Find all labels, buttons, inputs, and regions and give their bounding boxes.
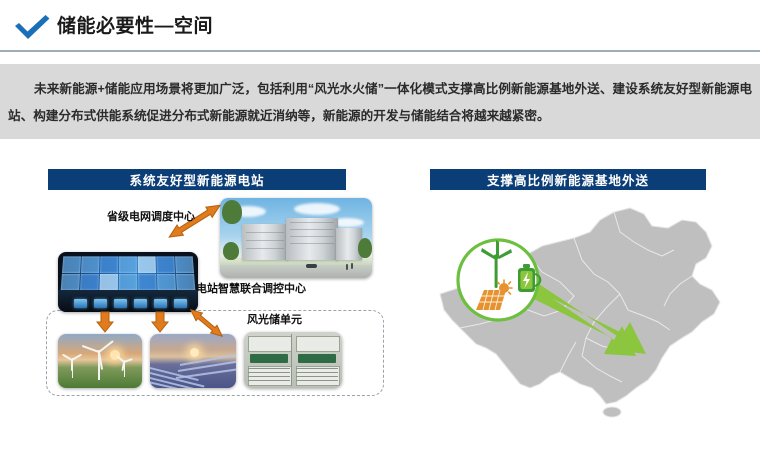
page-title: 储能必要性—空间 (57, 11, 213, 38)
right-section-banner: 支撑高比例新能源基地外送 (430, 169, 706, 190)
renewable-energy-badge (458, 240, 540, 320)
arrow-to-solar (152, 312, 168, 332)
label-wind-solar-storage-unit: 风光储单元 (247, 311, 302, 327)
left-section-banner: 系统友好型新能源电站 (48, 169, 346, 190)
hainan-island (603, 407, 621, 417)
arrow-to-wind (97, 312, 113, 332)
china-map (424, 198, 744, 430)
slide-header: 储能必要性—空间 (0, 0, 760, 52)
system-friendly-plant-diagram: 省级电网调度中心 电站智慧联合调控中心 风光储单元 (44, 194, 389, 396)
slide: 储能必要性—空间 未来新能源+储能应用场景将更加广泛，包括利用“风光水火储”一体… (0, 0, 760, 476)
body-paragraph: 未来新能源+储能应用场景将更加广泛，包括利用“风光水火储”一体化模式支撑高比例新… (8, 76, 752, 130)
header-divider (0, 50, 760, 52)
label-joint-control-center: 电站智慧联合调控中心 (196, 280, 306, 296)
body-panel: 未来新能源+储能应用场景将更加广泛，包括利用“风光水火储”一体化模式支撑高比例新… (0, 64, 760, 139)
china-map-diagram (424, 198, 744, 430)
label-dispatch-center: 省级电网调度中心 (107, 208, 195, 224)
check-icon (13, 13, 51, 41)
arrow-to-battery (188, 306, 226, 340)
